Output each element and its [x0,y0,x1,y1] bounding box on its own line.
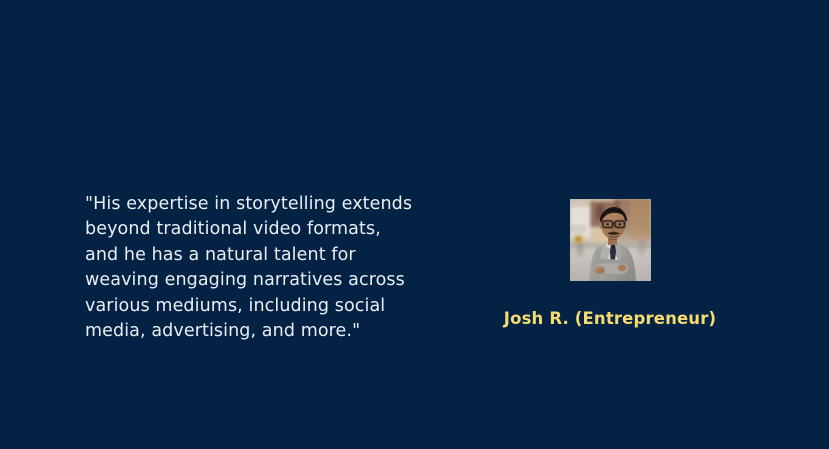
testimonial-slide: "His expertise in storytelling extends b… [0,0,829,449]
avatar [570,199,651,281]
portrait-photo-icon [570,199,651,281]
portrait-column: Josh R. (Entrepreneur) [501,199,719,328]
quote-text: "His expertise in storytelling extends b… [85,192,465,344]
attribution-name: Josh R. (Entrepreneur) [504,309,716,328]
quote-block: "His expertise in storytelling extends b… [85,192,465,344]
